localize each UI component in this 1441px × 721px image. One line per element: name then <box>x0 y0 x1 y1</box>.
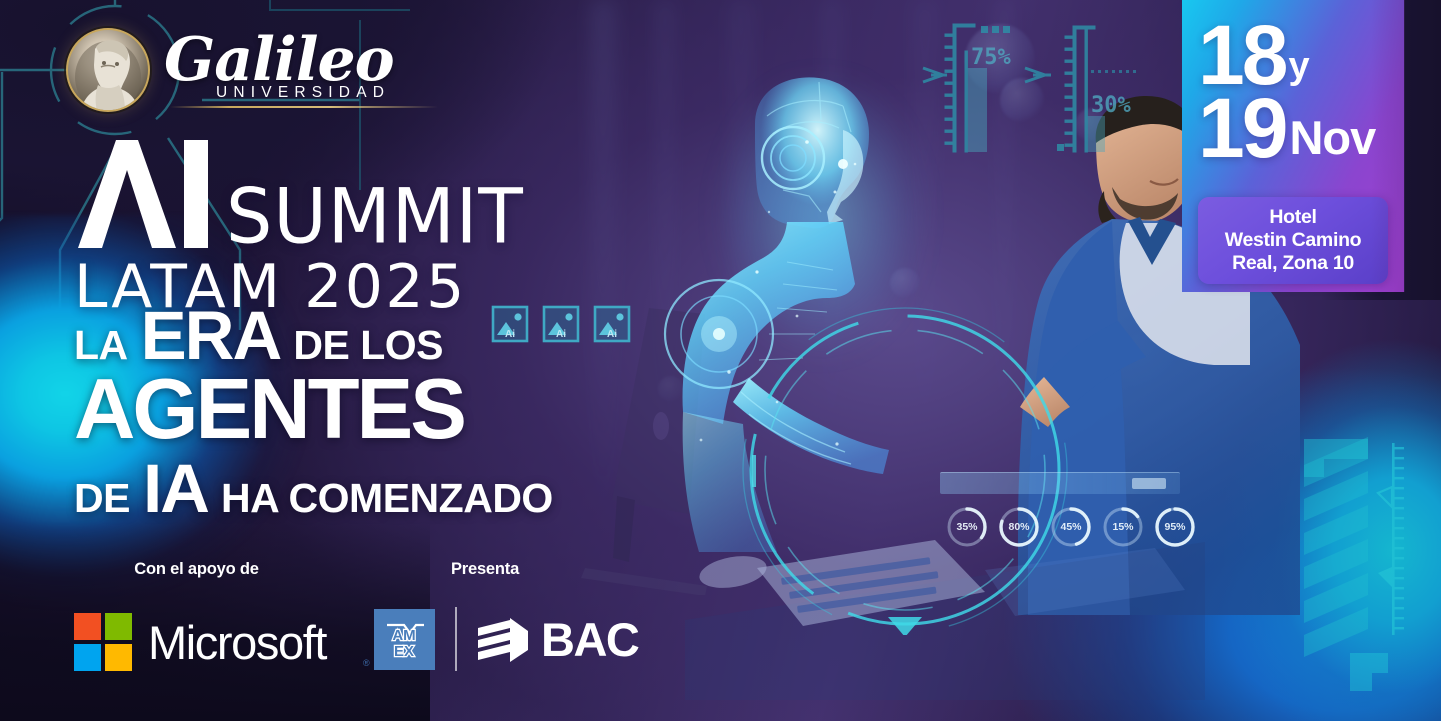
edge-decor-bars <box>1280 395 1441 721</box>
sponsors: Con el apoyo de Microsoft Presenta <box>74 560 638 671</box>
ai-image-icon: Ai <box>542 305 580 343</box>
event-banner: 35% 80% 45% 15% 95% <box>0 0 1441 721</box>
bac-logo: BAC <box>476 612 638 667</box>
university-subtitle: UNIVERSIDAD <box>216 84 394 102</box>
microsoft-logo: Microsoft <box>74 613 374 671</box>
tagline-ia: IA <box>143 449 208 528</box>
percent-ring: 80% <box>997 505 1041 549</box>
support-label: Con el apoyo de <box>74 560 319 579</box>
percent-ring-label: 95% <box>1153 505 1197 549</box>
microsoft-grid-icon <box>74 613 132 671</box>
svg-text:Ai: Ai <box>607 329 617 340</box>
amex-registered-icon: ® <box>363 658 370 668</box>
date-day-1: 18 <box>1198 22 1285 89</box>
hud-gauges: 75% 30% <box>905 8 1165 168</box>
percent-ring: 95% <box>1153 505 1197 549</box>
percent-ring: 45% <box>1049 505 1093 549</box>
date-month: Nov <box>1289 114 1375 161</box>
ai-image-icon: Ai <box>593 305 631 343</box>
circular-hud-ring <box>740 305 1070 635</box>
percent-ring-label: 80% <box>997 505 1041 549</box>
svg-text:EX: EX <box>394 643 414 660</box>
title-summit: SUMMIT <box>226 187 524 250</box>
event-title: SUMMIT LATAM 2025 <box>72 136 524 315</box>
tagline-de: DE <box>74 475 130 522</box>
ai-image-icon: Ai <box>491 305 529 343</box>
tagline-agentes: AGENTES <box>74 369 464 451</box>
bac-wordmark: BAC <box>541 612 638 667</box>
percent-ring-label: 15% <box>1101 505 1145 549</box>
tagline-ha-comenzado: HA COMENZADO <box>221 475 553 522</box>
venue-line-3: Real, Zona 10 <box>1204 252 1382 275</box>
date-panel: 18 y 19 Nov Hotel Westin Camino Real, Zo… <box>1182 0 1404 292</box>
ai-logo-mark <box>72 136 222 252</box>
sponsor-group-presents: Presenta AM EX ® <box>374 560 638 671</box>
percent-ring: 15% <box>1101 505 1145 549</box>
galileo-logo: Galileo UNIVERSIDAD <box>66 28 394 112</box>
amex-logo: AM EX ® <box>374 609 435 670</box>
hud-gauge-2-value: 30% <box>1091 93 1131 118</box>
hud-gauge-1-value: 75% <box>971 45 1011 70</box>
sponsor-divider <box>455 607 457 671</box>
sponsor-group-support: Con el apoyo de Microsoft <box>74 560 374 671</box>
university-name: Galileo <box>164 32 394 90</box>
ai-placeholder-icons: Ai Ai Ai <box>491 305 631 343</box>
svg-text:Ai: Ai <box>556 329 566 340</box>
galileo-bust-icon <box>66 28 150 112</box>
svg-text:Ai: Ai <box>505 329 515 340</box>
tagline: LA ERA DE LOS AGENTES DE IA HA COMENZADO <box>74 296 553 528</box>
venue-badge: Hotel Westin Camino Real, Zona 10 <box>1198 197 1388 284</box>
date-conjunction: y <box>1288 47 1309 85</box>
percent-ring-label: 35% <box>945 505 989 549</box>
bac-mark-icon <box>476 614 532 664</box>
svg-text:AM: AM <box>392 627 415 644</box>
percent-ring-label: 45% <box>1049 505 1093 549</box>
hud-percent-rings: 35% 80% 45% 15% 95% <box>945 505 1197 549</box>
venue-line-1: Hotel <box>1204 206 1382 229</box>
microsoft-wordmark: Microsoft <box>148 615 326 670</box>
logo-divider <box>170 106 438 108</box>
venue-line-2: Westin Camino <box>1204 229 1382 252</box>
percent-ring: 35% <box>945 505 989 549</box>
date-day-2: 19 <box>1198 95 1285 162</box>
hud-progress-bar <box>940 472 1180 494</box>
presents-label: Presenta <box>374 560 596 579</box>
